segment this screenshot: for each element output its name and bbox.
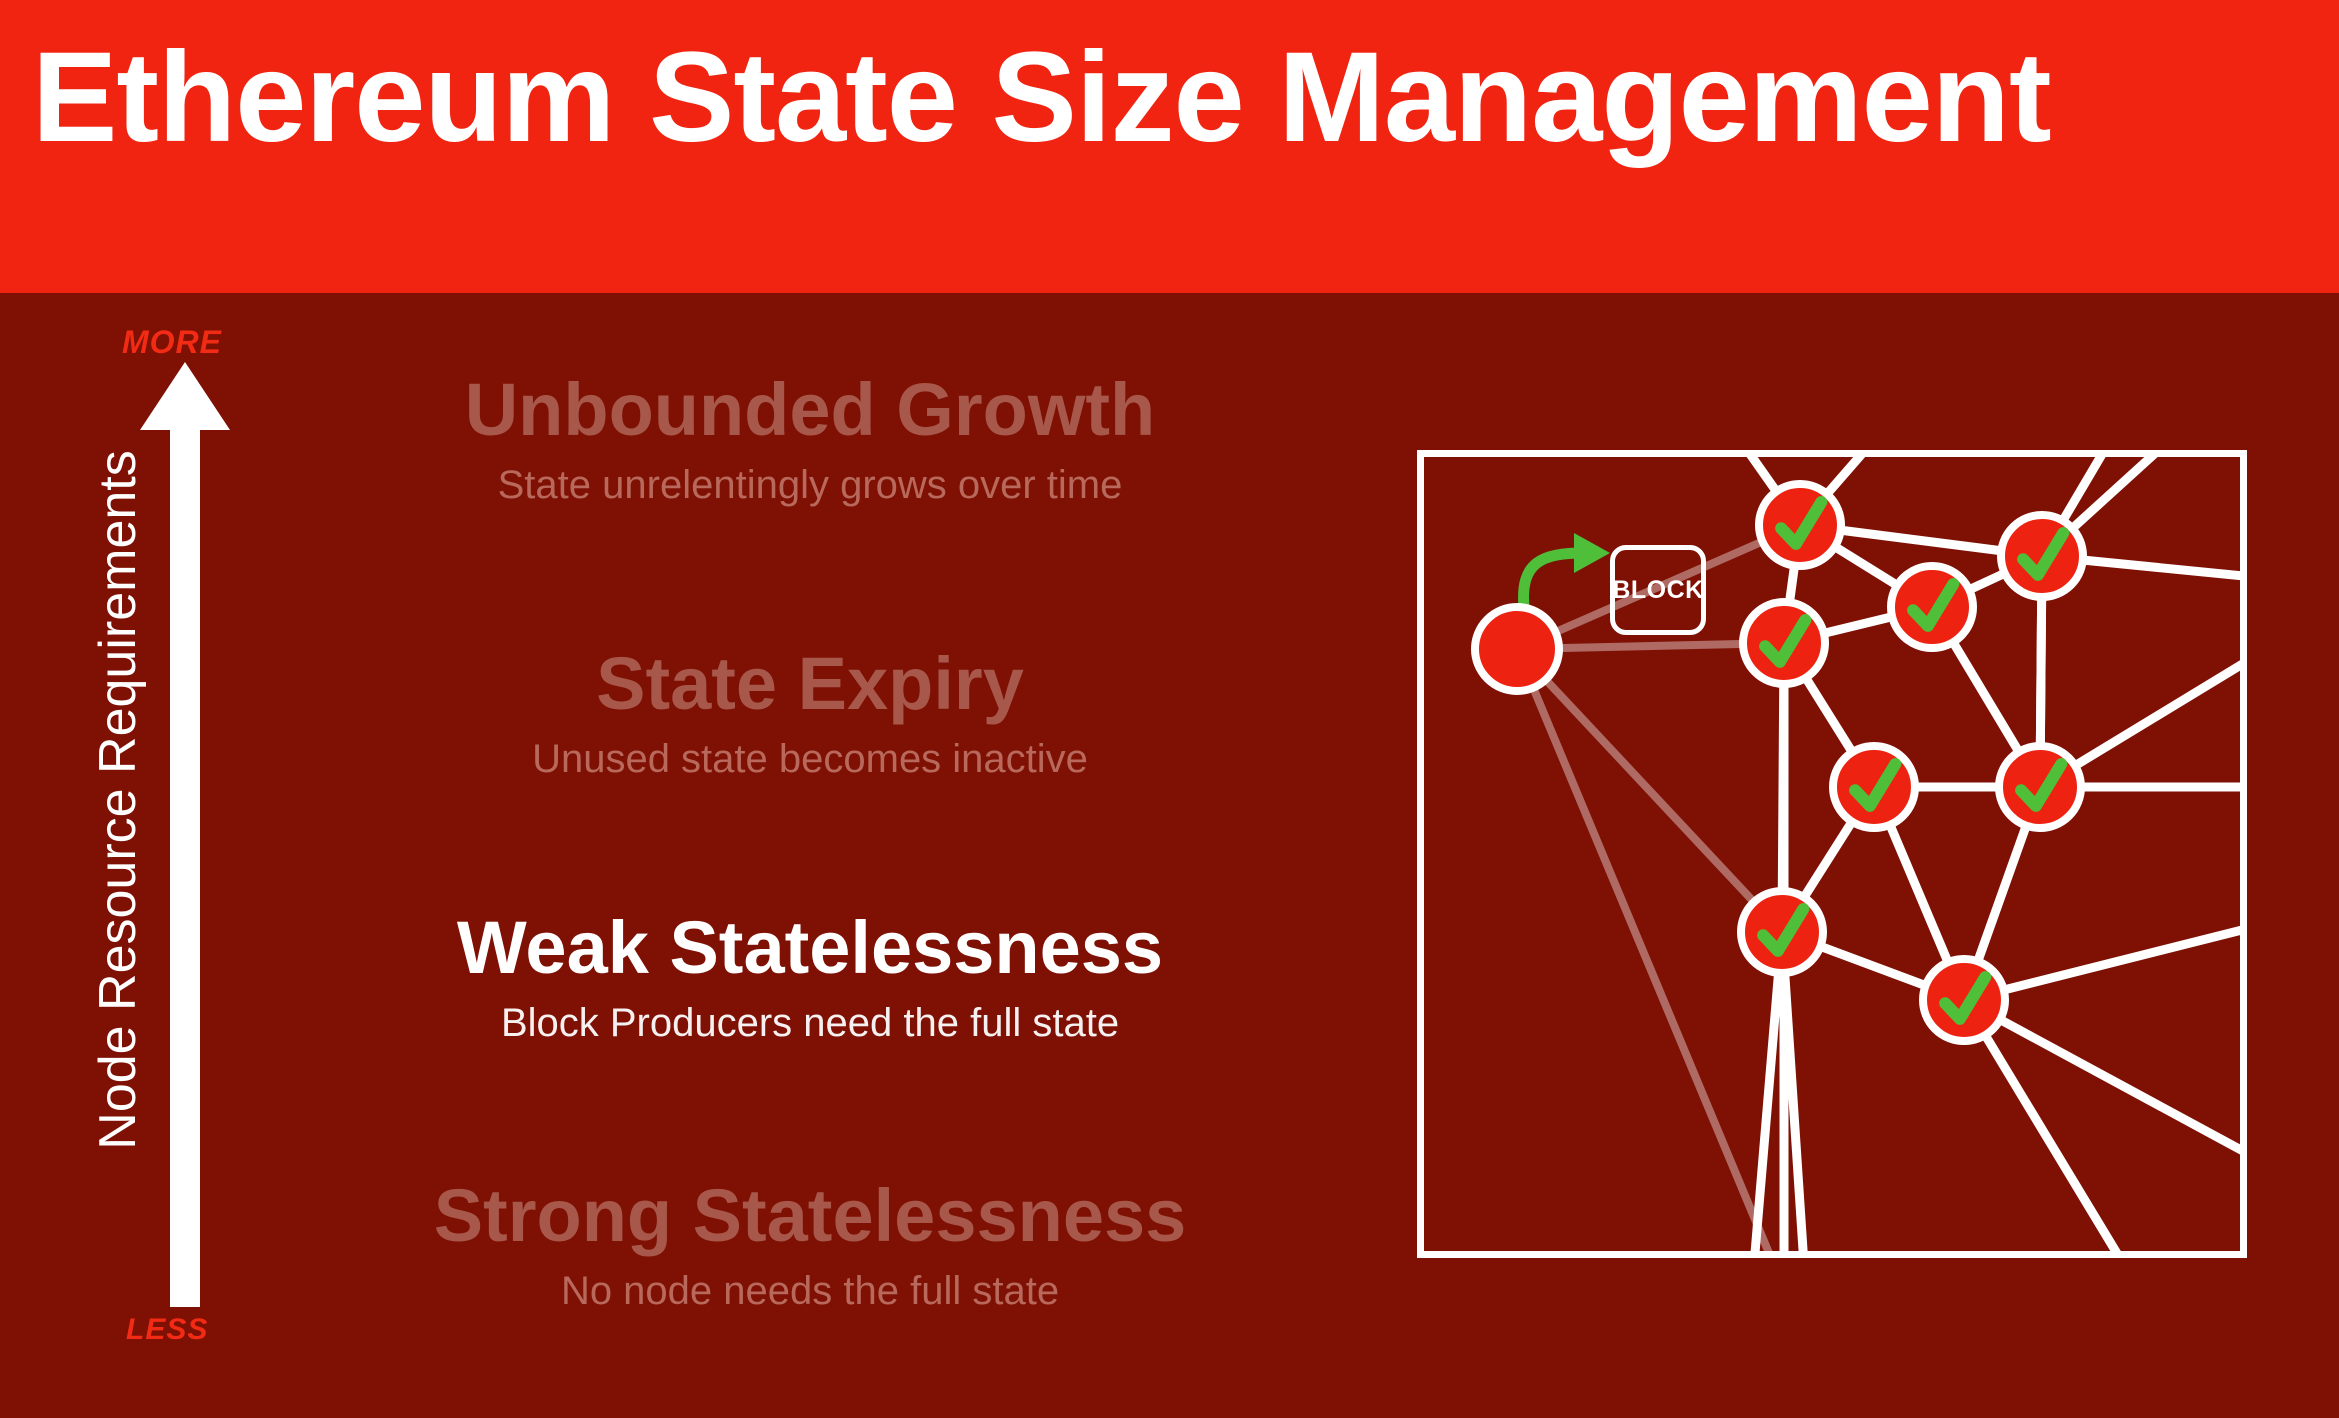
producer-edge — [1517, 649, 1774, 1258]
scale-item-subtitle: No node needs the full state — [260, 1267, 1360, 1315]
scale-item-weak-statelessness: Weak Statelessness Block Producers need … — [260, 910, 1360, 1047]
arrow-head-icon — [1574, 533, 1610, 573]
arrow-shaft — [170, 424, 200, 1307]
verified-node — [1923, 959, 2005, 1041]
scale-item-subtitle: State unrelentingly grows over time — [260, 461, 1360, 509]
producer-edge — [1517, 649, 1782, 932]
verified-node — [1833, 746, 1915, 828]
scale-item-title: Unbounded Growth — [260, 372, 1360, 449]
node-circle — [1833, 746, 1915, 828]
scale-item-title: State Expiry — [260, 646, 1360, 723]
verified-node — [1999, 746, 2081, 828]
block-producer-node — [1475, 607, 1559, 691]
scale-item-subtitle: Block Producers need the full state — [260, 999, 1360, 1047]
network-diagram: BLOCK — [1417, 450, 2247, 1258]
axis-title: Node Resource Requirements — [88, 450, 148, 1150]
verified-node — [2001, 515, 2083, 597]
network-edge-stub — [1754, 932, 1782, 1258]
verified-node — [1891, 566, 1973, 648]
network-graph-svg — [1424, 457, 2247, 1258]
scale-item-title: Weak Statelessness — [260, 910, 1360, 987]
slide-canvas: Ethereum State Size Management MORE LESS… — [0, 0, 2339, 1418]
block-propagation-arrow-icon — [1524, 533, 1610, 607]
page-title: Ethereum State Size Management — [32, 34, 2322, 162]
axis-up-arrow-icon — [140, 362, 230, 1307]
node-circle — [1475, 607, 1559, 691]
scale-item-title: Strong Statelessness — [260, 1178, 1360, 1255]
header-bar: Ethereum State Size Management — [0, 0, 2339, 293]
arrow-head — [140, 362, 230, 430]
axis-more-label: MORE — [122, 324, 222, 361]
block-box: BLOCK — [1610, 545, 1706, 635]
node-circle — [1741, 891, 1823, 973]
network-edges-group — [1724, 457, 2247, 1258]
node-circle — [1999, 746, 2081, 828]
node-circle — [1923, 959, 2005, 1041]
node-circle — [1743, 602, 1825, 684]
scale-item-strong-statelessness: Strong Statelessness No node needs the f… — [260, 1178, 1360, 1315]
block-label: BLOCK — [1612, 576, 1703, 605]
node-circle — [1759, 484, 1841, 566]
scale-item-subtitle: Unused state becomes inactive — [260, 735, 1360, 783]
scale-item-state-expiry: State Expiry Unused state becomes inacti… — [260, 646, 1360, 783]
axis-less-label: LESS — [126, 1313, 208, 1347]
verified-node — [1759, 484, 1841, 566]
verified-node — [1741, 891, 1823, 973]
scale-item-unbounded-growth: Unbounded Growth State unrelentingly gro… — [260, 372, 1360, 509]
verified-node — [1743, 602, 1825, 684]
node-circle — [2001, 515, 2083, 597]
node-circle — [1891, 566, 1973, 648]
